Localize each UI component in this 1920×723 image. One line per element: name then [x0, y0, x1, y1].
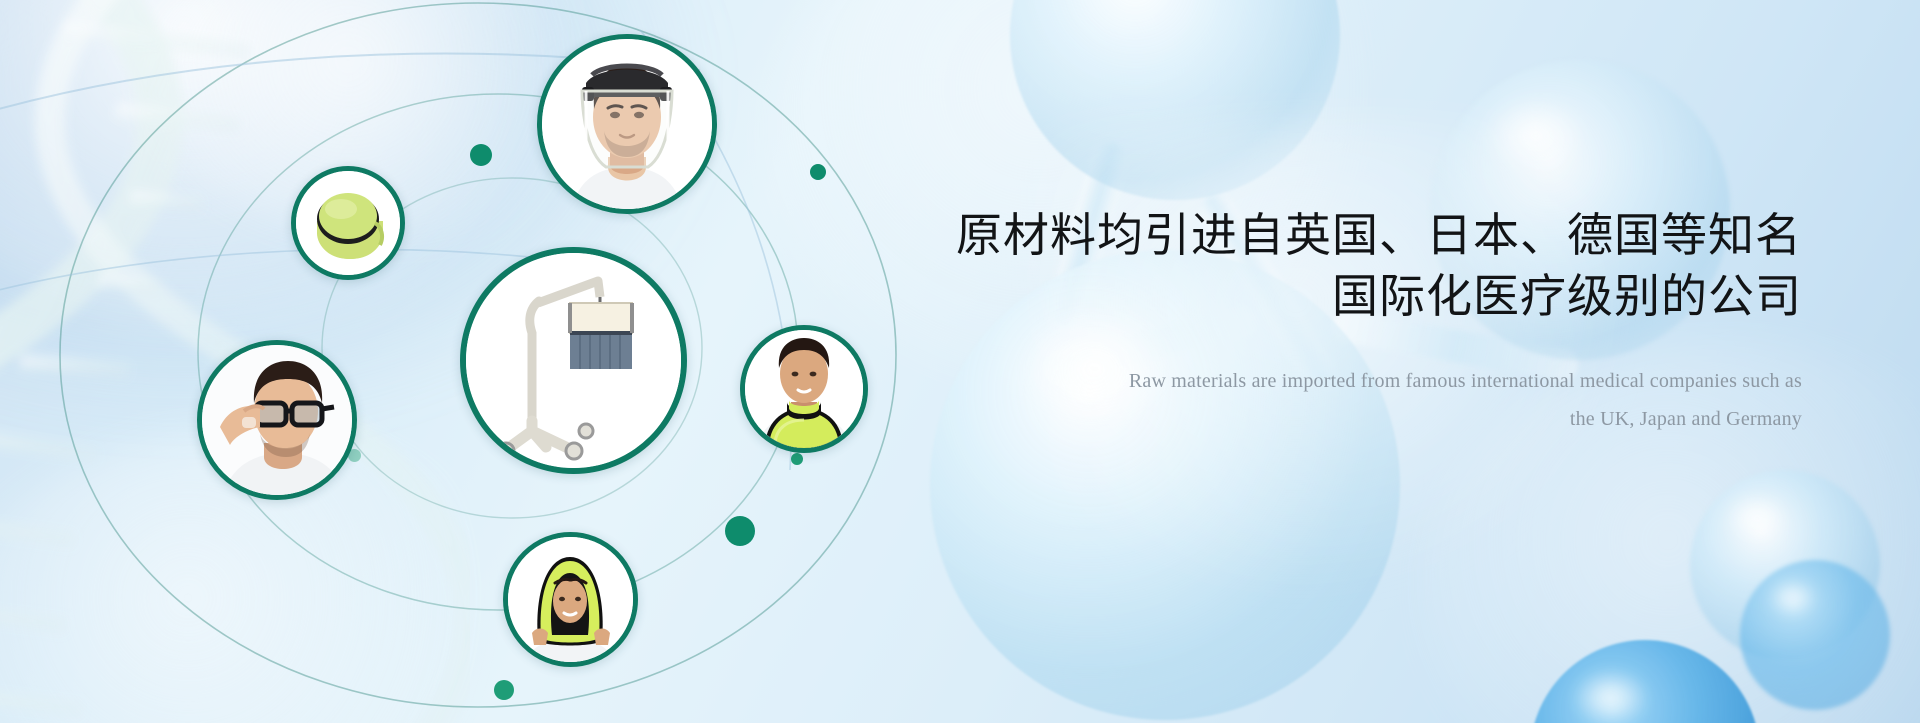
subtitle-line-1: Raw materials are imported from famous i…: [1129, 370, 1802, 392]
headline-line-2: 国际化医疗级别的公司: [942, 266, 1802, 327]
molecule-sphere-blue-2: [1740, 560, 1890, 710]
orbit-dot-5: [494, 680, 514, 700]
lead-protective-cap-icon: [296, 171, 400, 275]
lead-protective-hood-icon: [508, 537, 633, 662]
radiation-face-shield-visor-icon: [542, 39, 712, 209]
product-circle-lead-hood[interactable]: [503, 532, 638, 667]
subtitle-line-2: the UK, Japan and Germany: [942, 400, 1802, 438]
headline-line-1: 原材料均引进自英国、日本、德国等知名: [956, 209, 1802, 261]
orbit-dot-4: [791, 453, 803, 465]
hero-banner: 原材料均引进自英国、日本、德国等知名 国际化医疗级别的公司 Raw materi…: [0, 0, 1920, 723]
hero-copy: 原材料均引进自英国、日本、德国等知名 国际化医疗级别的公司 Raw materi…: [942, 205, 1802, 438]
product-circle-lead-glasses[interactable]: [197, 340, 357, 500]
product-circle-lead-cap[interactable]: [291, 166, 405, 280]
lead-thyroid-collar-icon: [745, 330, 863, 448]
molecule-sphere-blue: [1530, 640, 1760, 723]
product-circle-face-shield[interactable]: [537, 34, 717, 214]
orbit-dot-1: [470, 144, 492, 166]
page-subtitle: Raw materials are imported from famous i…: [942, 362, 1802, 438]
product-circle-shield-stand[interactable]: [460, 247, 687, 474]
lead-protective-glasses-icon: [202, 345, 352, 495]
product-circle-thyroid-collar[interactable]: [740, 325, 868, 453]
page-title: 原材料均引进自英国、日本、德国等知名 国际化医疗级别的公司: [942, 205, 1802, 326]
mobile-radiation-shield-stand-icon: [466, 253, 681, 468]
orbit-dot-2: [810, 164, 826, 180]
molecule-sphere-small: [1690, 470, 1880, 660]
orbit-dot-3: [725, 516, 755, 546]
molecule-sphere-top: [1010, 0, 1340, 200]
